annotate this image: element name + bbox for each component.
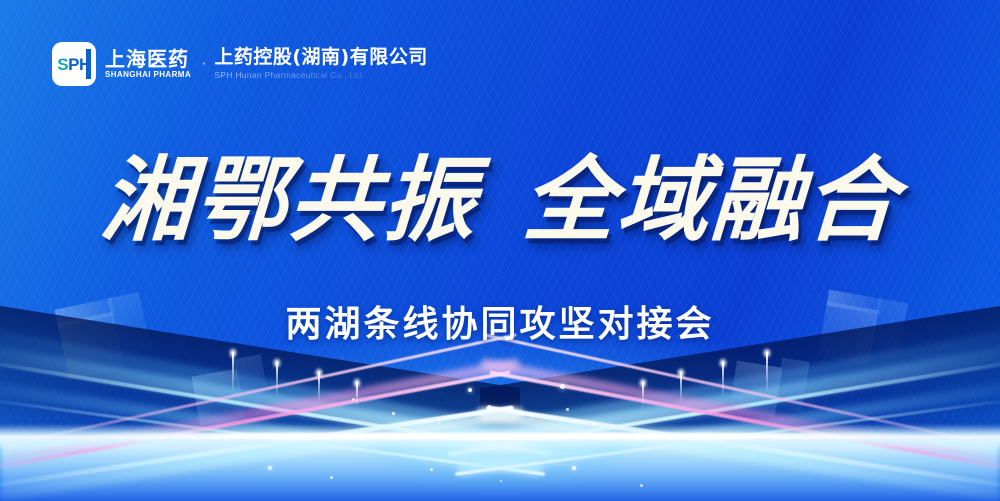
event-banner: SPH 上海医药 SHANGHAI PHARMA · 上药控股(湖南)有限公司 … [0, 0, 1000, 501]
headline: 湘鄂共振全域融合 [0, 152, 1000, 249]
brand-name-cn: 上海医药 [105, 49, 191, 70]
subtitle: 两湖条线协同攻坚对接会 [0, 295, 1000, 347]
sph-logo-bar [86, 49, 91, 79]
sph-letter-s: S [57, 55, 68, 74]
company-name-cn: 上药控股(湖南)有限公司 [214, 47, 427, 68]
brand-name-block: 上海医药 SHANGHAI PHARMA [105, 49, 191, 80]
brand-name-en: SHANGHAI PHARMA [105, 71, 191, 80]
company-name-block: 上药控股(湖南)有限公司 SPH Hunan Pharmaceutical Co… [214, 47, 427, 80]
decorative-cube [728, 351, 809, 427]
headline-part-1: 湘鄂共振 [98, 146, 480, 254]
logo-separator-dot: · [201, 55, 206, 73]
company-name-en: SPH Hunan Pharmaceutical Co., Ltd. [214, 70, 427, 80]
headline-part-2: 全域融合 [520, 146, 902, 254]
sph-logo-mark: SPH [52, 42, 96, 86]
decorative-cube [190, 354, 272, 432]
logo-lockup: SPH 上海医药 SHANGHAI PHARMA · 上药控股(湖南)有限公司 … [52, 42, 428, 86]
horizon-core-line [80, 433, 920, 439]
